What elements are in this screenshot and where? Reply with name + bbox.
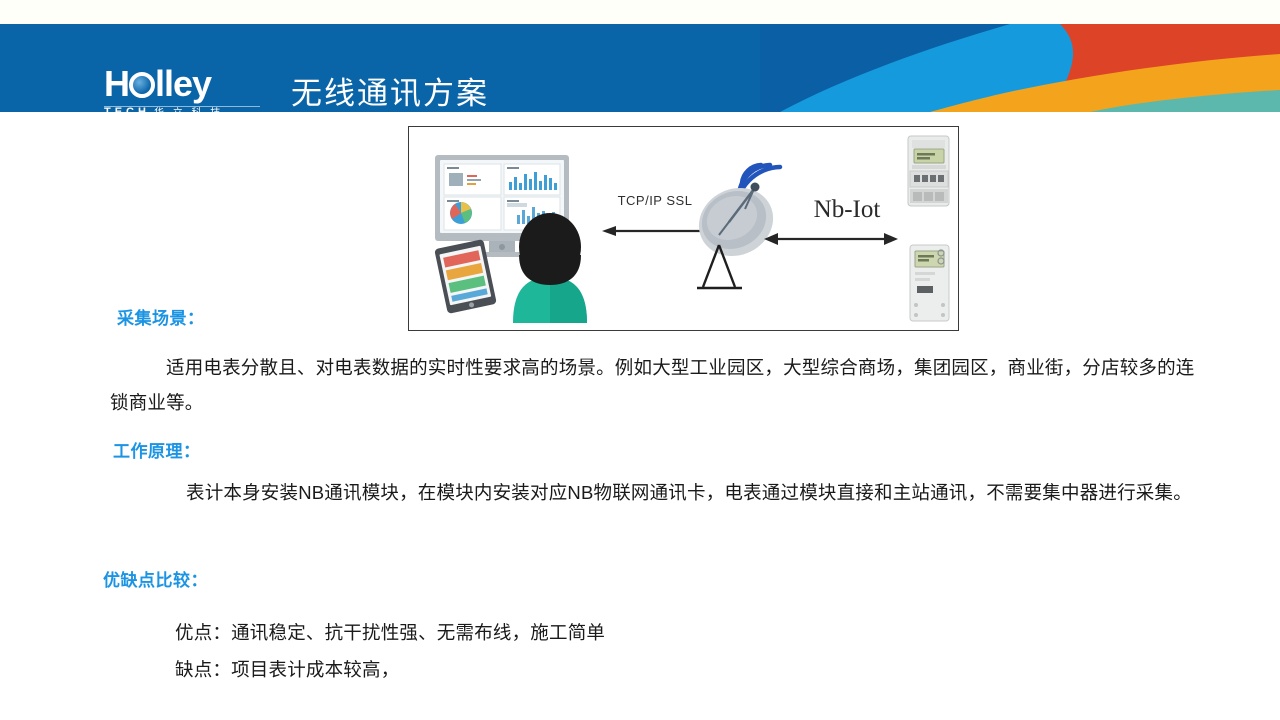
- nbiot-link: Nb-Iot: [764, 196, 898, 245]
- brand-logo-o-ring: [129, 72, 155, 98]
- brand-logo: Hlley TECH 华 立 科 技: [104, 66, 264, 112]
- person-icon: [513, 213, 587, 323]
- svg-text:Nb-Iot: Nb-Iot: [814, 196, 881, 223]
- meter-top-icon: [908, 136, 949, 206]
- network-topology-figure: TCP/IP SSL: [408, 126, 959, 331]
- section-heading-principle: 工作原理：: [113, 437, 201, 462]
- page-title: 无线通讯方案: [291, 74, 489, 112]
- section-body-pros: 优点：通讯稳定、抗干扰性强、无需布线，施工简单: [175, 615, 605, 650]
- slide-root: Hlley TECH 华 立 科 技 无线通讯方案: [0, 0, 1280, 720]
- header-top-strip: [0, 0, 1280, 24]
- section-body-cons: 缺点：项目表计成本较高，: [175, 652, 399, 687]
- section-body-principle: 表计本身安装NB通讯模块，在模块内安装对应NB物联网通讯卡，电表通过模块直接和主…: [130, 475, 1208, 510]
- section-heading-comparison: 优缺点比较：: [103, 566, 208, 591]
- section-body-scenario: 适用电表分散且、对电表数据的实时性要求高的场景。例如大型工业园区，大型综合商场，…: [110, 350, 1210, 420]
- brand-logo-lley: lley: [155, 63, 211, 104]
- section-heading-scenario: 采集场景：: [117, 304, 205, 329]
- tablet-icon: [434, 239, 497, 314]
- brand-logo-h: H: [104, 63, 129, 104]
- header-band: Hlley TECH 华 立 科 技 无线通讯方案: [0, 24, 1280, 112]
- antenna-icon: [687, 165, 784, 288]
- svg-text:TCP/IP SSL: TCP/IP SSL: [618, 193, 693, 208]
- brand-logo-wordmark: Hlley: [104, 66, 211, 102]
- header-ribbon-graphic: [760, 24, 1280, 112]
- meter-bottom-icon: [910, 245, 949, 321]
- brand-logo-divider: [104, 106, 260, 107]
